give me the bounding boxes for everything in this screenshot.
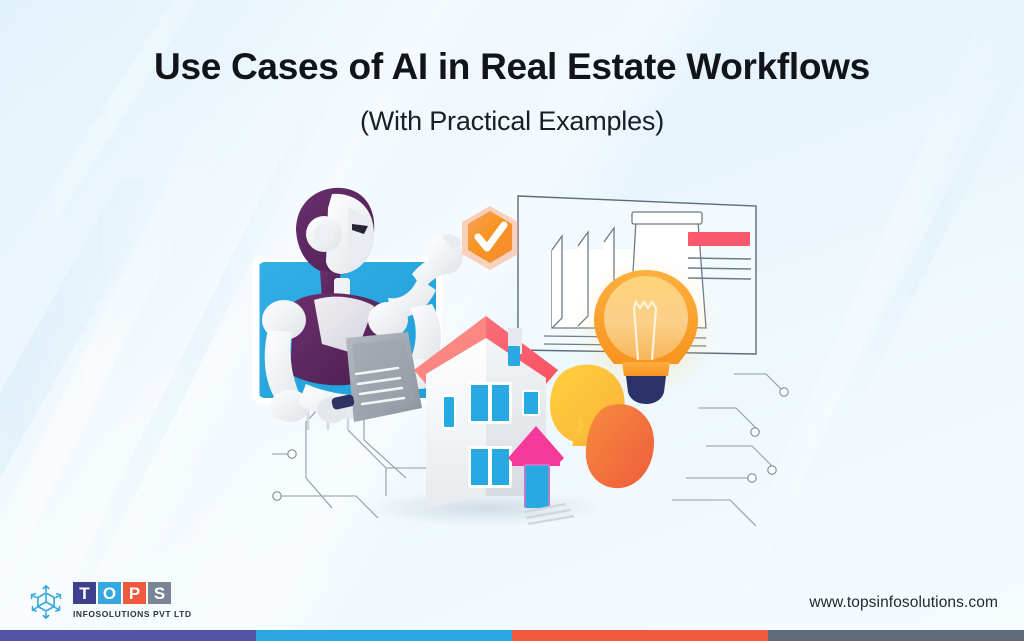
footer: T O P S INFOSOLUTIONS PVT LTD www.topsin… [0, 560, 1024, 630]
logo-tile-t: T [73, 582, 96, 604]
logo-tagline: INFOSOLUTIONS PVT LTD [73, 609, 192, 619]
logo-letter-tiles: T O P S [73, 582, 192, 604]
chart-legend-bar [688, 232, 750, 246]
page-subtitle: (With Practical Examples) [0, 104, 1024, 138]
window [468, 446, 512, 488]
stripe-segment-gray [768, 630, 1024, 641]
verified-hexagon-badge [462, 206, 518, 270]
door [526, 466, 548, 508]
company-logo[interactable]: T O P S INFOSOLUTIONS PVT LTD [28, 582, 192, 622]
logo-tile-s: S [148, 582, 171, 604]
stripe-segment-purple [0, 630, 256, 641]
stripe-segment-blue [256, 630, 512, 641]
window [468, 382, 512, 424]
cube-arrows-icon [28, 584, 64, 620]
stripe-segment-orange [512, 630, 768, 641]
header: Use Cases of AI in Real Estate Workflows… [0, 0, 1024, 138]
window [508, 346, 520, 366]
logo-tile-o: O [98, 582, 121, 604]
logo-tile-p: P [123, 582, 146, 604]
page-title: Use Cases of AI in Real Estate Workflows [0, 44, 1024, 90]
hero-illustration [236, 178, 796, 538]
banner: Use Cases of AI in Real Estate Workflows… [0, 0, 1024, 641]
bottom-color-stripe [0, 630, 1024, 641]
website-url[interactable]: www.topsinfosolutions.com [809, 594, 998, 612]
bulb-base [626, 376, 666, 404]
window [444, 397, 454, 427]
window [522, 390, 540, 416]
